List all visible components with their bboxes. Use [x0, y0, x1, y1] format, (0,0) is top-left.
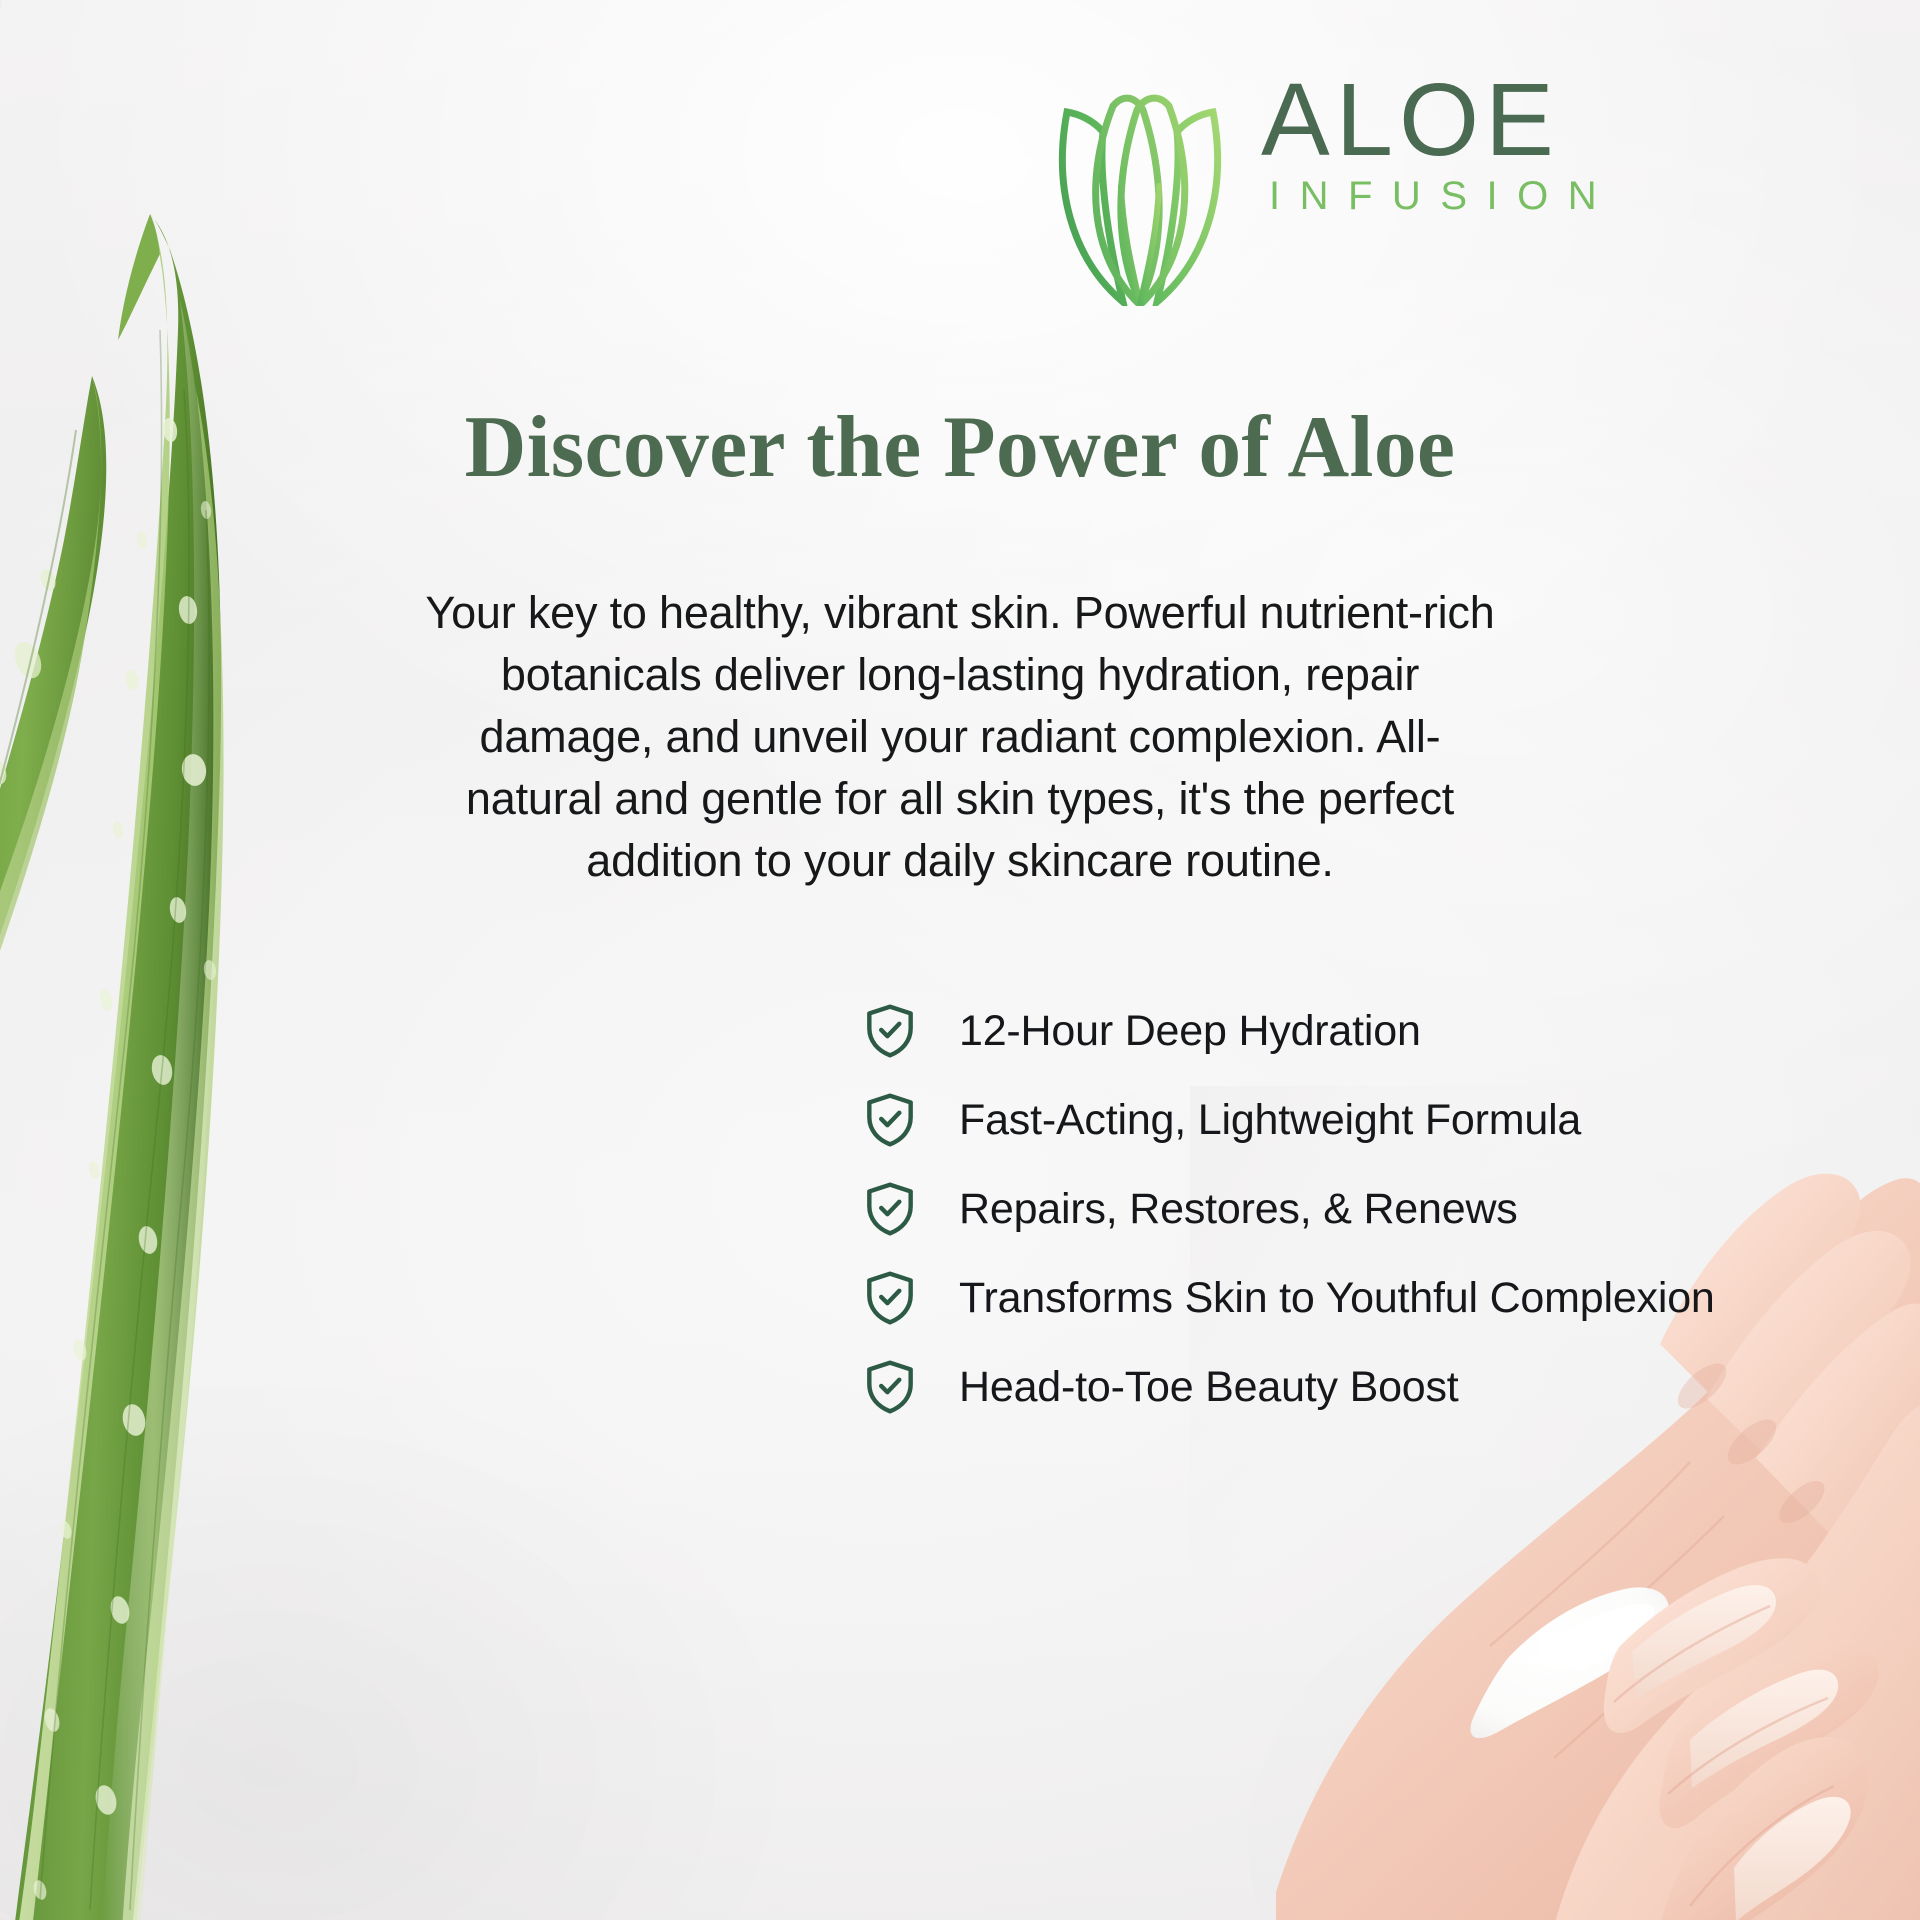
- list-item: Repairs, Restores, & Renews: [859, 1178, 1465, 1240]
- list-item: Head-to-Toe Beauty Boost: [859, 1356, 1465, 1418]
- brand-logo: ALOE INFUSION: [565, 72, 1355, 311]
- list-item-label: Transforms Skin to Youthful Complexion: [959, 1277, 1715, 1320]
- shield-check-icon: [859, 1178, 921, 1240]
- shield-check-icon: [859, 1000, 921, 1062]
- list-item-label: Repairs, Restores, & Renews: [959, 1188, 1518, 1231]
- shield-check-icon: [859, 1089, 921, 1151]
- brand-wordmark: ALOE INFUSION: [1261, 72, 1616, 219]
- poster-content: ALOE INFUSION Discover the Power of Aloe…: [0, 0, 1920, 1920]
- list-item: 12-Hour Deep Hydration: [859, 1000, 1465, 1062]
- brand-name: ALOE: [1261, 72, 1616, 168]
- shield-check-icon: [859, 1267, 921, 1329]
- list-item-label: 12-Hour Deep Hydration: [959, 1010, 1421, 1053]
- list-item: Transforms Skin to Youthful Complexion: [859, 1267, 1465, 1329]
- page-title: Discover the Power of Aloe: [29, 397, 1891, 498]
- aloe-leaf-logo-icon: [1045, 76, 1235, 311]
- feature-list: 12-Hour Deep Hydration Fast-Acting, Ligh…: [455, 1000, 1465, 1418]
- list-item-label: Head-to-Toe Beauty Boost: [959, 1366, 1459, 1409]
- intro-paragraph: Your key to healthy, vibrant skin. Power…: [415, 582, 1505, 892]
- brand-tagline: INFUSION: [1261, 174, 1616, 219]
- shield-check-icon: [859, 1356, 921, 1418]
- list-item-label: Fast-Acting, Lightweight Formula: [959, 1099, 1581, 1142]
- list-item: Fast-Acting, Lightweight Formula: [859, 1089, 1465, 1151]
